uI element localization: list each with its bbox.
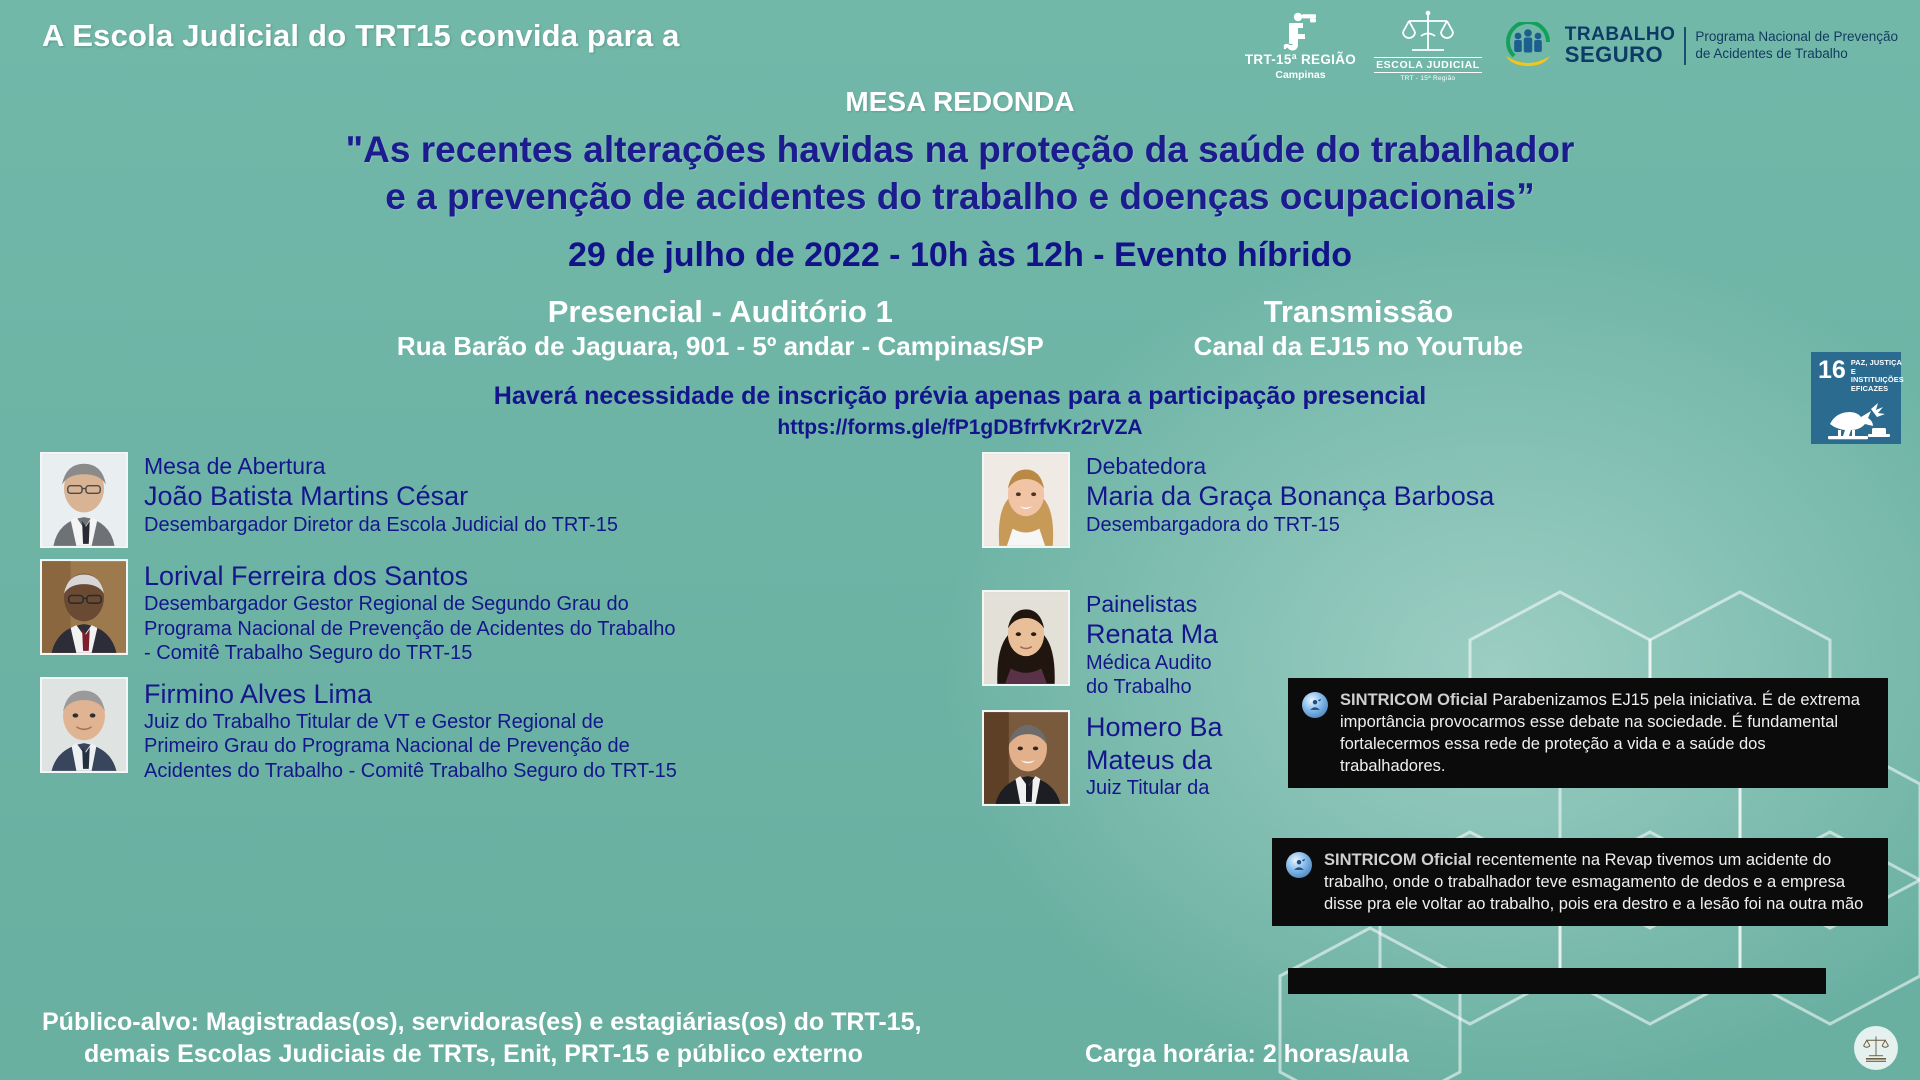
speaker-text: Firmino Alves Lima Juiz do Trabalho Titu… bbox=[144, 677, 677, 784]
chat-author[interactable]: SINTRICOM Oficial bbox=[1340, 691, 1488, 709]
portrait-firmino-alves bbox=[42, 679, 126, 771]
people-in-hand-icon bbox=[1500, 22, 1556, 70]
speaker-role: Mesa de Abertura bbox=[144, 453, 618, 480]
speaker-name: Firmino Alves Lima bbox=[144, 678, 677, 710]
speaker-name: Lorival Ferreira dos Santos bbox=[144, 560, 675, 592]
chat-row: SINTRICOM Oficial recentemente na Revap … bbox=[1286, 850, 1874, 916]
avatar bbox=[982, 590, 1070, 686]
logo-desc-line1: Programa Nacional de Prevenção bbox=[1695, 29, 1898, 46]
trt-justice-figure-icon bbox=[1272, 11, 1328, 51]
footer-workload: Carga horária: 2 horas/aula bbox=[1085, 1040, 1409, 1069]
speaker-title-line3: - Comitê Trabalho Seguro do TRT-15 bbox=[144, 641, 675, 665]
speaker-title-line2: do Trabalho bbox=[1086, 675, 1218, 699]
footer-bar: Público-alvo: Magistradas(os), servidora… bbox=[0, 994, 1920, 1080]
speaker-title-line1: Desembargador Gestor Regional de Segundo… bbox=[144, 592, 675, 616]
logo-seguro-word: SEGURO bbox=[1565, 44, 1676, 66]
sdg-text-line3: EFICAZES bbox=[1851, 385, 1904, 394]
chat-message[interactable]: SINTRICOM Oficial recentemente na Revap … bbox=[1272, 838, 1888, 926]
speaker-text: Debatedora Maria da Graça Bonança Barbos… bbox=[1086, 452, 1494, 537]
chat-message[interactable]: SINTRICOM Oficial Parabenizamos EJ15 pel… bbox=[1288, 678, 1888, 788]
chat-avatar-icon bbox=[1302, 692, 1328, 718]
speaker-name: Maria da Graça Bonança Barbosa bbox=[1086, 480, 1494, 512]
chat-row: SINTRICOM Oficial Parabenizamos EJ15 pel… bbox=[1302, 690, 1874, 778]
avatar bbox=[40, 559, 128, 655]
sdg-text-line1: PAZ, JUSTIÇA E bbox=[1851, 359, 1904, 376]
chat-body: SINTRICOM Oficial recentemente na Revap … bbox=[1324, 850, 1874, 916]
speaker-title-line2: Primeiro Grau do Programa Nacional de Pr… bbox=[144, 734, 677, 758]
speaker-name: Renata Ma bbox=[1086, 618, 1218, 650]
event-datetime: 29 de julho de 2022 - 10h às 12h - Event… bbox=[0, 236, 1920, 275]
avatar bbox=[982, 452, 1070, 548]
portrait-renata bbox=[984, 592, 1068, 684]
portrait-joao-batista bbox=[42, 454, 126, 546]
page-title: A Escola Judicial do TRT15 convida para … bbox=[42, 18, 680, 54]
registration-note: Haverá necessidade de inscrição prévia a… bbox=[0, 382, 1920, 411]
speaker-name: João Batista Martins César bbox=[144, 480, 618, 512]
dove-and-gavel-icon bbox=[1818, 394, 1895, 444]
venue-transmissao-channel: Canal da EJ15 no YouTube bbox=[1194, 331, 1523, 362]
footer-audience-line1: Público-alvo: Magistradas(os), servidora… bbox=[42, 1008, 921, 1036]
chat-body: SINTRICOM Oficial Parabenizamos EJ15 pel… bbox=[1340, 690, 1874, 778]
event-theme-line1: "As recentes alterações havidas na prote… bbox=[0, 126, 1920, 173]
chat-avatar-icon bbox=[1286, 852, 1312, 878]
venue-presencial-head: Presencial - Auditório 1 bbox=[397, 294, 1044, 331]
footer-audience: Público-alvo: Magistradas(os), servidora… bbox=[42, 1006, 921, 1070]
speaker-title-line2: Programa Nacional de Prevenção de Aciden… bbox=[144, 617, 675, 641]
speaker-item: Firmino Alves Lima Juiz do Trabalho Titu… bbox=[40, 677, 1000, 784]
portrait-homero bbox=[984, 712, 1068, 804]
speaker-name-line2: Mateus da bbox=[1086, 744, 1223, 776]
escola-judicial-seal-icon bbox=[1854, 1026, 1898, 1070]
scales-of-justice-icon bbox=[1399, 10, 1457, 56]
logo-desc-line2: de Acidentes de Trabalho bbox=[1695, 46, 1898, 63]
portrait-maria-da-graca bbox=[984, 454, 1068, 546]
speaker-item: Lorival Ferreira dos Santos Desembargado… bbox=[40, 559, 1000, 666]
speaker-role: Debatedora bbox=[1086, 453, 1494, 480]
event-theme-line2: e a prevenção de acidentes do trabalho e… bbox=[0, 173, 1920, 220]
registration-link[interactable]: https://forms.gle/fP1gDBfrfvKr2rVZA bbox=[0, 416, 1920, 440]
speaker-role: Painelistas bbox=[1086, 591, 1218, 618]
avatar bbox=[40, 452, 128, 548]
logo-escola-judicial: ESCOLA JUDICIAL TRT - 15ª Região bbox=[1374, 10, 1482, 82]
logo-trt15-name: TRT-15ª REGIÃO bbox=[1245, 53, 1356, 67]
logo-trabalho-seguro: TRABALHO SEGURO Programa Nacional de Pre… bbox=[1500, 22, 1898, 70]
speaker-title-line1: Juiz do Trabalho Titular de VT e Gestor … bbox=[144, 710, 677, 734]
speaker-title-line3: Acidentes do Trabalho - Comitê Trabalho … bbox=[144, 759, 677, 783]
speaker-text: Painelistas Renata Ma Médica Audito do T… bbox=[1086, 590, 1218, 699]
logo-trt15: TRT-15ª REGIÃO Campinas bbox=[1245, 11, 1356, 81]
speaker-text: Lorival Ferreira dos Santos Desembargado… bbox=[144, 559, 675, 666]
chat-message-partial[interactable] bbox=[1288, 968, 1826, 994]
speaker-title-line1: Médica Audito bbox=[1086, 651, 1218, 675]
event-theme: "As recentes alterações havidas na prote… bbox=[0, 126, 1920, 221]
sdg-text: PAZ, JUSTIÇA E INSTITUIÇÕES EFICAZES bbox=[1851, 359, 1904, 394]
sdg-16-badge: 16 PAZ, JUSTIÇA E INSTITUIÇÕES EFICAZES bbox=[1811, 352, 1901, 444]
logo-trabalho-seguro-description: Programa Nacional de Prevenção de Aciden… bbox=[1695, 29, 1898, 63]
portrait-lorival-ferreira bbox=[42, 561, 126, 653]
avatar bbox=[40, 677, 128, 773]
logo-escola-judicial-name: ESCOLA JUDICIAL bbox=[1374, 57, 1482, 73]
speaker-title: Juiz Titular da bbox=[1086, 776, 1223, 800]
venue-transmissao-head: Transmissão bbox=[1194, 294, 1523, 331]
venue-row: Presencial - Auditório 1 Rua Barão de Ja… bbox=[0, 294, 1920, 362]
speaker-item: Debatedora Maria da Graça Bonança Barbos… bbox=[982, 452, 1682, 548]
logo-row: TRT-15ª REGIÃO Campinas ES bbox=[1245, 10, 1898, 82]
event-kind: MESA REDONDA bbox=[0, 86, 1920, 118]
speakers-left-column: Mesa de Abertura João Batista Martins Cé… bbox=[40, 452, 1000, 794]
footer-audience-line2: demais Escolas Judiciais de TRTs, Enit, … bbox=[42, 1038, 921, 1070]
speaker-title: Desembargadora do TRT-15 bbox=[1086, 513, 1494, 537]
chat-author[interactable]: SINTRICOM Oficial bbox=[1324, 851, 1472, 869]
venue-transmissao: Transmissão Canal da EJ15 no YouTube bbox=[1194, 294, 1523, 362]
speaker-name-line1: Homero Ba bbox=[1086, 711, 1223, 743]
speaker-item: Mesa de Abertura João Batista Martins Cé… bbox=[40, 452, 1000, 548]
sdg-number: 16 bbox=[1818, 359, 1846, 382]
slide-canvas: A Escola Judicial do TRT15 convida para … bbox=[0, 0, 1920, 1080]
avatar bbox=[982, 710, 1070, 806]
logo-trt15-sub: Campinas bbox=[1275, 69, 1325, 81]
logo-escola-judicial-sub: TRT - 15ª Região bbox=[1400, 75, 1455, 82]
venue-presencial: Presencial - Auditório 1 Rua Barão de Ja… bbox=[397, 294, 1044, 362]
speaker-text: Mesa de Abertura João Batista Martins Cé… bbox=[144, 452, 618, 537]
logo-trabalho-seguro-wordmark: TRABALHO SEGURO bbox=[1565, 25, 1676, 66]
logo-divider bbox=[1684, 27, 1686, 65]
sdg-heading: 16 PAZ, JUSTIÇA E INSTITUIÇÕES EFICAZES bbox=[1818, 359, 1895, 394]
speaker-text: Homero Ba Mateus da Juiz Titular da bbox=[1086, 710, 1223, 800]
speaker-title: Desembargador Diretor da Escola Judicial… bbox=[144, 513, 618, 537]
venue-presencial-address: Rua Barão de Jaguara, 901 - 5º andar - C… bbox=[397, 331, 1044, 362]
